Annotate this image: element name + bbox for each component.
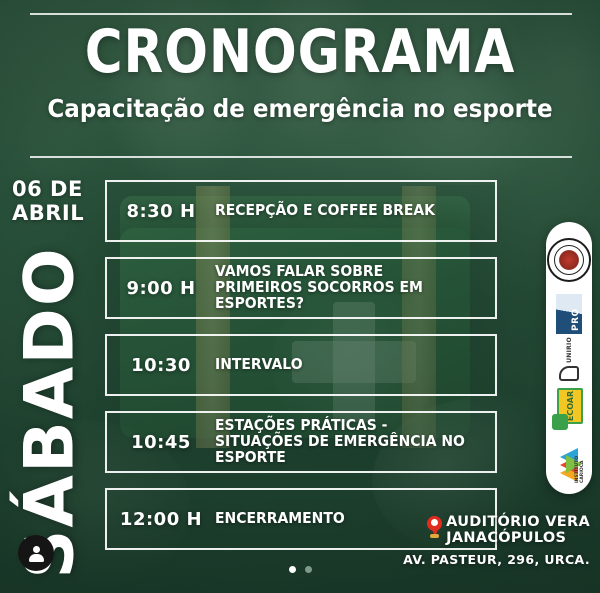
schedule-row-label: VAMOS FALAR SOBRE PRIMEIROS SOCORROS EM … — [215, 264, 475, 312]
ecoar-logo-icon: ECOAR — [552, 386, 586, 430]
schedule-row-label: RECEPÇÃO E COFFEE BREAK — [215, 203, 475, 219]
leaf-icon — [552, 414, 568, 430]
schedule-row: 10:45 ESTAÇÕES PRÁTICAS - SITUAÇÕES DE E… — [105, 411, 497, 473]
venue-name: AUDITÓRIO VERA JANACÓPULOS — [446, 515, 590, 547]
schedule-row-time: 10:45 — [107, 432, 215, 453]
schedule-row: 10:30 INTERVALO — [105, 334, 497, 396]
event-date-line1: 06 DE — [12, 178, 84, 202]
pro-logo: PRO — [556, 294, 582, 334]
sponsor-logo-rail: PRO UNIRIO ECOAR INSTITUTO CARIOCA — [546, 222, 592, 494]
unirio-logo: UNIRIO — [556, 337, 582, 381]
pin-base — [430, 534, 439, 538]
schedule-row-label: ESTAÇÕES PRÁTICAS - SITUAÇÕES DE EMERGÊN… — [215, 418, 475, 466]
carousel-indicator — [0, 566, 600, 573]
venue-name-line1: AUDITÓRIO VERA — [446, 514, 590, 530]
carousel-dot-2[interactable] — [305, 566, 312, 573]
schedule-list: 8:30 H RECEPÇÃO E COFFEE BREAK 9:00 H VA… — [105, 180, 497, 565]
unirio-mark-icon — [559, 366, 579, 381]
ecoar-logo: ECOAR — [552, 386, 586, 430]
instituto-carioca-logo: INSTITUTO CARIOCA — [552, 439, 586, 483]
poster-header: CRONOGRAMA Capacitação de emergência no … — [0, 22, 600, 123]
schedule-row-time: 10:30 — [107, 355, 215, 376]
avatar-head — [33, 546, 40, 553]
instituto-carioca-icon: INSTITUTO CARIOCA — [552, 439, 586, 483]
venue-block: AUDITÓRIO VERA JANACÓPULOS AV. PASTEUR, … — [360, 515, 590, 567]
location-pin-icon — [427, 516, 442, 537]
schedule-row-time: 8:30 H — [107, 201, 215, 222]
avatar-body — [29, 554, 44, 562]
event-date: 06 DE ABRIL — [12, 178, 84, 225]
schedule-row: 8:30 H RECEPÇÃO E COFFEE BREAK — [105, 180, 497, 242]
schedule-row-label: INTERVALO — [215, 357, 475, 373]
pro-logo-icon: PRO — [556, 294, 582, 334]
unirio-logo-icon: UNIRIO — [556, 337, 582, 381]
weekday-label: SÁBADO — [11, 239, 90, 587]
abm-seal-logo — [547, 238, 591, 282]
instituto-carioca-label: INSTITUTO CARIOCA — [575, 438, 585, 483]
top-divider — [30, 13, 572, 15]
carousel-dot-1[interactable] — [289, 566, 296, 573]
page-subtitle: Capacitação de emergência no esporte — [24, 94, 576, 123]
header-divider — [30, 156, 572, 158]
schedule-row-time: 9:00 H — [107, 278, 215, 299]
weekday-container: SÁBADO — [0, 238, 96, 568]
unirio-logo-label: UNIRIO — [566, 337, 573, 363]
event-date-line2: ABRIL — [12, 202, 84, 226]
schedule-poster: CRONOGRAMA Capacitação de emergência no … — [0, 0, 600, 593]
page-title: CRONOGRAMA — [42, 22, 558, 82]
abm-seal-icon — [547, 238, 591, 282]
schedule-row: 9:00 H VAMOS FALAR SOBRE PRIMEIROS SOCOR… — [105, 257, 497, 319]
venue-address: AV. PASTEUR, 296, URCA. — [360, 552, 590, 567]
avatar-glyph — [27, 544, 45, 562]
schedule-row-time: 12:00 H — [107, 509, 215, 530]
venue-name-row: AUDITÓRIO VERA JANACÓPULOS — [360, 515, 590, 547]
venue-name-line2: JANACÓPULOS — [446, 530, 566, 546]
